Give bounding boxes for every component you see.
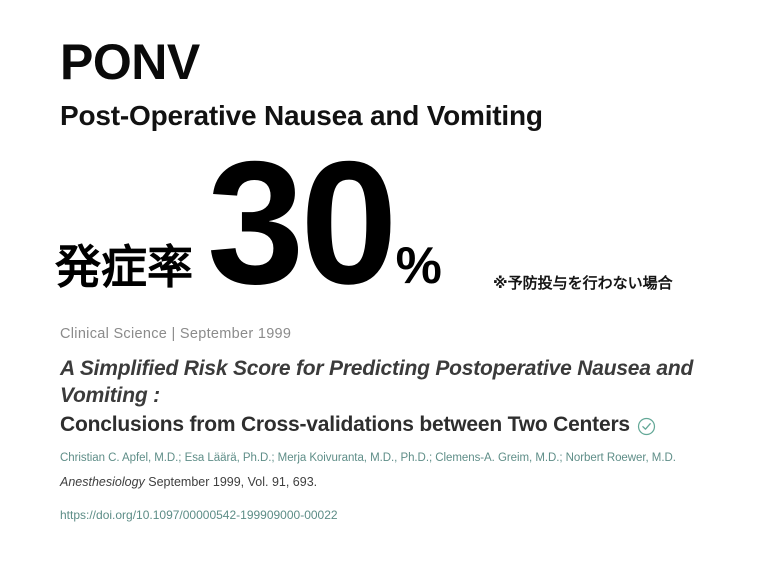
citation-article-title[interactable]: A Simplified Risk Score for Predicting P… bbox=[60, 356, 715, 410]
page-title: PONV bbox=[60, 36, 720, 89]
slide-canvas: PONV Post-Operative Nausea and Vomiting … bbox=[0, 0, 768, 576]
statistic-value: 30 bbox=[207, 156, 394, 293]
check-circle-icon bbox=[637, 417, 656, 436]
citation-authors: Christian C. Apfel, M.D.; Esa Läärä, Ph.… bbox=[60, 450, 715, 467]
citation-journal-details: September 1999, Vol. 91, 693. bbox=[145, 475, 317, 489]
citation-article-subtitle[interactable]: Conclusions from Cross-validations betwe… bbox=[60, 412, 630, 439]
statistic-row: 発症率 30 % bbox=[55, 156, 442, 293]
heading-block: PONV Post-Operative Nausea and Vomiting bbox=[60, 36, 720, 133]
citation-journal-name: Anesthesiology bbox=[60, 475, 145, 489]
statistic-footnote: ※予防投与を行わない場合 bbox=[493, 272, 673, 293]
statistic-block: 発症率 30 % ※予防投与を行わない場合 bbox=[55, 150, 735, 300]
citation-subtitle-row: Conclusions from Cross-validations betwe… bbox=[60, 412, 715, 439]
statistic-label: 発症率 bbox=[55, 244, 193, 290]
citation-kicker: Clinical Science | September 1999 bbox=[60, 326, 715, 342]
citation-journal: Anesthesiology September 1999, Vol. 91, … bbox=[60, 474, 715, 492]
citation-block: Clinical Science | September 1999 A Simp… bbox=[60, 326, 715, 524]
statistic-unit: % bbox=[396, 240, 442, 292]
citation-doi-link[interactable]: https://doi.org/10.1097/00000542-1999090… bbox=[60, 507, 338, 524]
